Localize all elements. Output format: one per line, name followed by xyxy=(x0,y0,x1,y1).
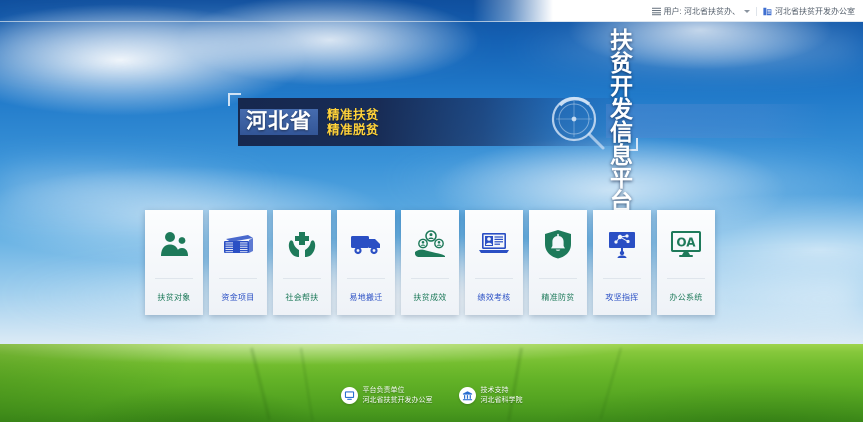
module-card-list: 扶贫对象 资金项目 xyxy=(145,210,715,315)
people-icon xyxy=(145,210,203,278)
chevron-down-icon[interactable] xyxy=(744,10,750,13)
card-zijin-xiangmu[interactable]: 资金项目 xyxy=(209,210,267,315)
user-menu[interactable]: 用户: 河北省扶贫办、 xyxy=(652,6,750,17)
top-bar: 用户: 河北省扶贫办、 河北省扶贫开发办公室 xyxy=(0,0,863,22)
footer-line-2: 河北省科学院 xyxy=(481,396,523,405)
cloud-band xyxy=(0,20,863,66)
slogan-line-2: 精准脱贫 xyxy=(327,123,379,137)
card-label: 办公系统 xyxy=(669,279,702,315)
card-label: 易地搬迁 xyxy=(349,279,382,315)
province-badge: 河北省 xyxy=(240,109,318,135)
cloud-band xyxy=(0,150,863,210)
presentation-icon xyxy=(593,210,651,278)
card-label: 扶贫对象 xyxy=(157,279,190,315)
top-bar-actions: 用户: 河北省扶贫办、 河北省扶贫开发办公室 xyxy=(652,0,855,22)
footer-tech-support: 技术支持 河北省科学院 xyxy=(459,386,523,405)
card-fupin-duixiang[interactable]: 扶贫对象 xyxy=(145,210,203,315)
card-bangong-xitong[interactable]: OA 办公系统 xyxy=(657,210,715,315)
platform-title: 扶贫开发信息平台 xyxy=(610,30,638,214)
building-icon xyxy=(763,7,772,16)
card-label: 扶贫成效 xyxy=(413,279,446,315)
footer-text-block: 技术支持 河北省科学院 xyxy=(481,386,523,405)
hand-people-icon xyxy=(401,210,459,278)
organization-label: 河北省扶贫开发办公室 xyxy=(775,6,855,17)
organization-link[interactable]: 河北省扶贫开发办公室 xyxy=(763,6,855,17)
grid-icon xyxy=(652,7,661,16)
grass-field-background xyxy=(0,344,863,422)
institute-icon xyxy=(459,387,476,404)
footer-responsible-unit: 平台负责单位 河北省扶贫开发办公室 xyxy=(341,386,433,405)
card-label: 社会帮扶 xyxy=(285,279,318,315)
oa-monitor-icon: OA xyxy=(657,210,715,278)
money-stack-icon xyxy=(209,210,267,278)
card-label: 资金项目 xyxy=(221,279,254,315)
top-bar-separator xyxy=(756,7,757,16)
page-root: 用户: 河北省扶贫办、 河北省扶贫开发办公室 xyxy=(0,0,863,422)
laptop-chart-icon xyxy=(465,210,523,278)
card-label: 攻坚指挥 xyxy=(605,279,638,315)
card-label: 精准防贫 xyxy=(541,279,574,315)
card-shehui-bangfu[interactable]: 社会帮扶 xyxy=(273,210,331,315)
hands-heart-icon xyxy=(273,210,331,278)
monitor-icon xyxy=(341,387,358,404)
truck-icon xyxy=(337,210,395,278)
slogan-block: 精准扶贫 精准脱贫 xyxy=(327,108,379,136)
province-label: 河北省 xyxy=(246,111,312,132)
card-yidi-banqian[interactable]: 易地搬迁 xyxy=(337,210,395,315)
card-jixiao-kaohe[interactable]: 绩效考核 xyxy=(465,210,523,315)
svg-text:OA: OA xyxy=(676,236,696,250)
card-fupin-chengxiao[interactable]: 扶贫成效 xyxy=(401,210,459,315)
shield-bell-icon xyxy=(529,210,587,278)
footer-text-block: 平台负责单位 河北省扶贫开发办公室 xyxy=(363,386,433,405)
card-gongjian-zhihui[interactable]: 攻坚指挥 xyxy=(593,210,651,315)
banner-title-row: 河北省 精准扶贫 精准脱贫 xyxy=(240,99,379,145)
footer-line-2: 河北省扶贫开发办公室 xyxy=(363,396,433,405)
footer-line-1: 技术支持 xyxy=(481,386,523,395)
card-label: 绩效考核 xyxy=(477,279,510,315)
top-bar-fade xyxy=(473,0,553,22)
card-jingzhun-fangpin[interactable]: 精准防贫 xyxy=(529,210,587,315)
title-banner: 河北省 精准扶贫 精准脱贫 扶贫开发信息平台 xyxy=(228,93,638,151)
diagonal-stripes-decoration xyxy=(552,0,616,22)
footer: 平台负责单位 河北省扶贫开发办公室 技术支持 河北省科学院 xyxy=(0,386,863,405)
footer-line-1: 平台负责单位 xyxy=(363,386,433,395)
user-label: 用户: 河北省扶贫办、 xyxy=(664,6,740,17)
slogan-line-1: 精准扶贫 xyxy=(327,108,379,122)
platform-title-highlight xyxy=(606,104,830,138)
platform-title-wrap: 扶贫开发信息平台 xyxy=(610,99,638,145)
